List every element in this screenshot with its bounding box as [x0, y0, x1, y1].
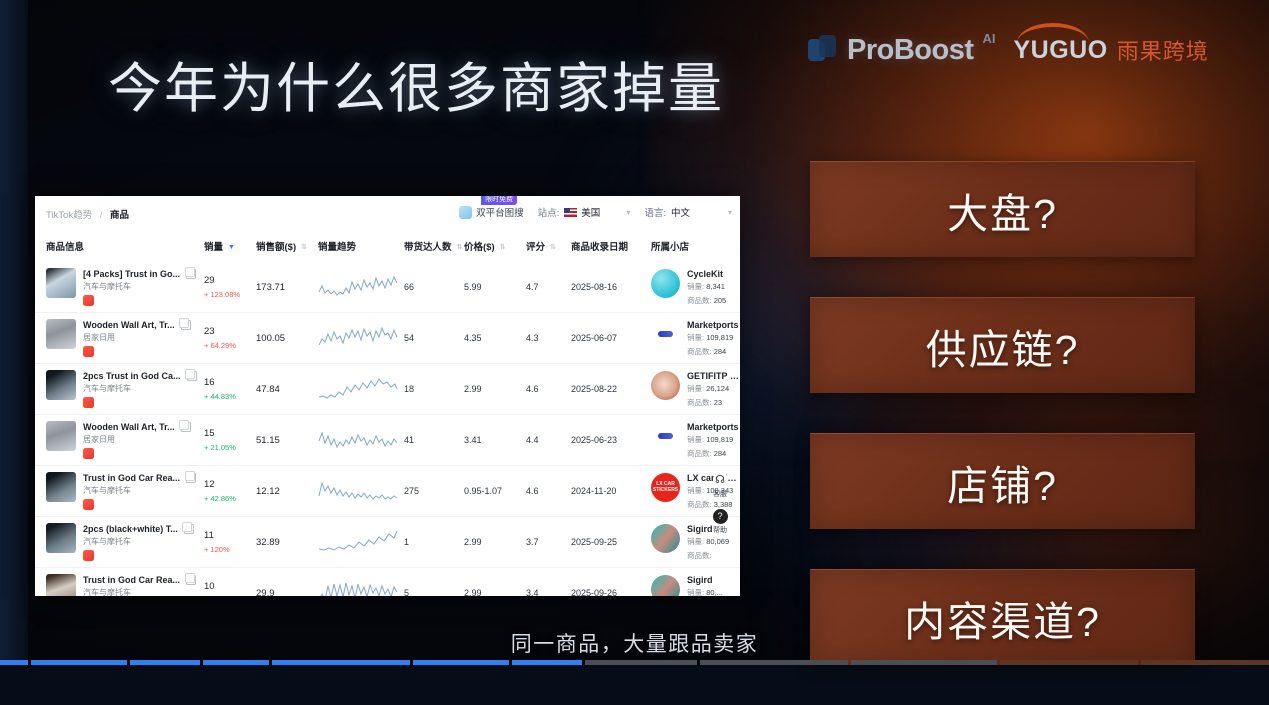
- product-thumbnail: [46, 370, 76, 400]
- cell-trend: [318, 466, 404, 517]
- column-header-shop[interactable]: 所属小店: [651, 232, 740, 262]
- cell-rating: 4.4: [526, 415, 571, 466]
- chevron-down-icon[interactable]: ▾: [728, 208, 732, 217]
- cell-creators: 275: [404, 466, 464, 517]
- shop-avatar: [651, 371, 680, 400]
- cell-revenue: 47.84: [256, 364, 318, 415]
- column-header-sales[interactable]: 销量▼: [204, 232, 256, 262]
- customer-service-button[interactable]: ☊ 客服: [704, 470, 736, 499]
- cell-shop: Marketports 销量: 109,819 商品数: 284: [651, 415, 740, 466]
- cell-listed-date: 2025-06-23: [571, 415, 651, 466]
- cell-sales: 29 + 123.08%: [204, 262, 256, 313]
- sparkline-chart: [318, 529, 398, 555]
- cell-sales: 23 + 64.29%: [204, 313, 256, 364]
- caption-text: 同一商品，大量跟品卖家: [511, 633, 759, 656]
- callout-box-market: 大盘?: [810, 161, 1195, 257]
- tiktok-shop-icon: [83, 550, 94, 561]
- shop-items-value: 205: [714, 296, 727, 305]
- sparkline-chart: [318, 325, 398, 351]
- sort-icon[interactable]: ▼: [228, 244, 235, 251]
- sparkline-chart: [318, 478, 398, 504]
- product-thumbnail: [46, 268, 76, 298]
- tiktok-shop-icon: [83, 295, 94, 306]
- cell-price: 4.35: [464, 313, 526, 364]
- callout-label: 店铺?: [947, 452, 1058, 512]
- product-name[interactable]: [4 Packs] Trust in Go...: [83, 269, 180, 279]
- tiktok-shop-icon: [83, 346, 94, 357]
- sales-delta: + 120%: [204, 545, 256, 554]
- tiktok-shop-icon: [83, 499, 94, 510]
- cell-listed-date: 2025-09-25: [571, 517, 651, 568]
- chevron-down-icon[interactable]: ▾: [626, 208, 630, 217]
- cell-price: 3.41: [464, 415, 526, 466]
- product-name[interactable]: 2pcs Trust in God Ca...: [83, 371, 181, 381]
- customer-service-label: 客服: [704, 489, 736, 499]
- copy-icon[interactable]: [186, 473, 196, 483]
- cell-trend: [318, 313, 404, 364]
- column-header-creators[interactable]: 带货达人数⇅: [404, 232, 464, 262]
- cell-revenue: 173.71: [256, 262, 318, 313]
- callout-box-supply-chain: 供应链?: [810, 297, 1195, 393]
- revenue-value: 47.84: [256, 384, 318, 395]
- table-row[interactable]: [4 Packs] Trust in Go... 汽车与摩托车 29 + 123…: [35, 262, 740, 313]
- help-label: 帮助: [704, 525, 736, 535]
- logo-bar: ProBoost AI YUGUO 雨果跨境: [808, 22, 1260, 78]
- cell-revenue: 12.12: [256, 466, 318, 517]
- cell-revenue: 29.9: [256, 568, 318, 597]
- proboost-ai-suffix: AI: [983, 31, 996, 46]
- cell-sales: 12 + 42.86%: [204, 466, 256, 517]
- cell-rating: 4.3: [526, 313, 571, 364]
- shop-name[interactable]: CycleKit: [687, 269, 726, 279]
- revenue-value: 100.05: [256, 333, 318, 344]
- product-thumbnail: [46, 472, 76, 502]
- cell-trend: [318, 517, 404, 568]
- sort-icon[interactable]: ⇅: [457, 244, 463, 251]
- progress-segment[interactable]: [1141, 660, 1269, 665]
- product-category: 居家日用: [83, 434, 191, 445]
- sales-delta: + 123.08%: [204, 290, 256, 299]
- table-row[interactable]: Trust in God Car Rea... 汽车与摩托车 10 + 66.6…: [35, 568, 740, 597]
- cell-trend: [318, 568, 404, 597]
- shop-sales-value: 8,341: [706, 282, 725, 291]
- copy-icon[interactable]: [181, 422, 191, 432]
- cell-sales: 16 + 44.83%: [204, 364, 256, 415]
- language-value: 中文: [671, 205, 690, 219]
- product-category: 汽车与摩托车: [83, 485, 196, 496]
- proboost-wordmark: ProBoost: [847, 34, 974, 67]
- cell-product-info: Wooden Wall Art, Tr... 居家日用: [35, 415, 204, 466]
- sparkline-chart: [318, 580, 398, 596]
- breadcrumb-current: 商品: [110, 210, 129, 221]
- yuguo-logo: YUGUO 雨果跨境: [1014, 34, 1209, 66]
- table-header-row: 商品信息 销量▼ 销售额($)⇅ 销量趋势 带货达人数⇅ 价格($)⇅ 评分⇅ …: [35, 232, 740, 262]
- progress-segment[interactable]: [1000, 660, 1138, 665]
- callout-list: 大盘? 供应链? 店铺? 内容渠道?: [810, 161, 1195, 705]
- cell-product-info: 2pcs (black+white) T... 汽车与摩托车: [35, 517, 204, 568]
- cell-creators: 41: [404, 415, 464, 466]
- progress-segment[interactable]: [700, 660, 848, 665]
- sparkline-chart: [318, 376, 398, 402]
- shop-avatar: [651, 575, 680, 597]
- cell-listed-date: 2024-11-20: [571, 466, 651, 517]
- cell-trend: [318, 415, 404, 466]
- floating-action-buttons: ☊ 客服 ? 帮助: [704, 470, 736, 542]
- headset-icon: ☊: [713, 472, 728, 487]
- sales-value: 16: [204, 377, 256, 388]
- revenue-value: 173.71: [256, 282, 318, 293]
- cell-creators: 18: [404, 364, 464, 415]
- sparkline-chart: [318, 274, 398, 300]
- table-row[interactable]: Trust in God Car Rea... 汽车与摩托车 12 + 42.8…: [35, 466, 740, 517]
- cell-trend: [318, 364, 404, 415]
- product-category: 汽车与摩托车: [83, 281, 196, 292]
- yuguo-swoosh-icon: [1017, 23, 1089, 43]
- column-header-sales-trend[interactable]: 销量趋势: [318, 232, 404, 262]
- cell-listed-date: 2025-09-26: [571, 568, 651, 597]
- column-header-price[interactable]: 价格($)⇅: [464, 232, 526, 262]
- language-selector[interactable]: 语言: 中文 ▾: [644, 205, 732, 219]
- shop-items-label: 商品数:: [687, 296, 712, 305]
- limited-free-badge: 限时免费: [481, 196, 517, 205]
- progress-segment[interactable]: [203, 660, 269, 665]
- cell-price: 2.99: [464, 364, 526, 415]
- panel-toolbar: 限时免费 双平台图搜 站点: 美国 ▾ 语言: 中文 ▾: [445, 205, 732, 219]
- sort-icon[interactable]: ⇅: [500, 244, 506, 251]
- progress-segment[interactable]: [31, 660, 127, 665]
- breadcrumb-root[interactable]: TikTok趋势: [46, 210, 92, 221]
- video-progress-bar[interactable]: [0, 660, 1269, 665]
- column-header-revenue[interactable]: 销售额($)⇅: [256, 232, 318, 262]
- progress-segment[interactable]: [413, 660, 509, 665]
- language-label: 语言:: [644, 205, 666, 219]
- progress-segment[interactable]: [130, 660, 200, 665]
- panel-header: TikTok趋势 / 商品 限时免费 双平台图搜 站点: 美国 ▾ 语言: 中文…: [35, 196, 740, 232]
- site-label: 站点:: [538, 205, 560, 219]
- product-thumbnail: [46, 523, 76, 553]
- cell-price: 2.99: [464, 517, 526, 568]
- cell-creators: 66: [404, 262, 464, 313]
- cell-revenue: 32.89: [256, 517, 318, 568]
- cell-listed-date: 2025-08-22: [571, 364, 651, 415]
- copy-icon[interactable]: [186, 269, 196, 279]
- cell-shop: Sigird 销量: 80,... 商品数: 14: [651, 568, 740, 597]
- table-row[interactable]: 2pcs Trust in God Ca... 汽车与摩托车 16 + 44.8…: [35, 364, 740, 415]
- proboost-mark-icon: [808, 35, 838, 65]
- background-left-strip: [0, 0, 28, 665]
- image-search-button[interactable]: 限时免费 双平台图搜: [459, 205, 524, 219]
- shop-name[interactable]: Marketports: [687, 320, 739, 330]
- cell-rating: 4.7: [526, 262, 571, 313]
- table-body: [4 Packs] Trust in Go... 汽车与摩托车 29 + 123…: [35, 262, 740, 596]
- cell-shop: Marketports 销量: 109,819 商品数: 284: [651, 313, 740, 364]
- sort-icon[interactable]: ⇅: [550, 244, 556, 251]
- product-thumbnail: [46, 319, 76, 349]
- product-name[interactable]: 2pcs (black+white) T...: [83, 524, 178, 534]
- shop-avatar: LX CARSTICKERS: [651, 473, 680, 502]
- sales-value: 15: [204, 428, 256, 439]
- progress-segment[interactable]: [851, 660, 997, 665]
- sales-value: 12: [204, 479, 256, 490]
- shop-name[interactable]: Marketports: [687, 422, 739, 432]
- cell-revenue: 51.15: [256, 415, 318, 466]
- cell-sales: 10 + 66.67%: [204, 568, 256, 597]
- product-category: 汽车与摩托车: [83, 383, 197, 394]
- revenue-value: 32.89: [256, 537, 318, 548]
- cell-creators: 54: [404, 313, 464, 364]
- sales-delta: + 21.05%: [204, 443, 256, 452]
- copy-icon[interactable]: [184, 524, 194, 534]
- copy-icon[interactable]: [187, 371, 197, 381]
- proboost-logo: ProBoost AI: [808, 34, 974, 67]
- product-category: 汽车与摩托车: [83, 587, 196, 596]
- cell-price: 5.99: [464, 262, 526, 313]
- image-search-icon: [459, 206, 472, 219]
- shop-avatar: [651, 422, 680, 451]
- table-row[interactable]: 2pcs (black+white) T... 汽车与摩托车 11 + 120%…: [35, 517, 740, 568]
- sales-delta: + 42.86%: [204, 494, 256, 503]
- product-name[interactable]: Wooden Wall Art, Tr...: [83, 320, 175, 330]
- us-flag-icon: [564, 208, 577, 217]
- cell-shop: CycleKit 销量: 8,341 商品数: 205: [651, 262, 740, 313]
- cell-product-info: Wooden Wall Art, Tr... 居家日用: [35, 313, 204, 364]
- progress-segment[interactable]: [0, 660, 28, 665]
- yuguo-wordmark-cn: 雨果跨境: [1117, 34, 1209, 66]
- help-button[interactable]: ? 帮助: [704, 506, 736, 535]
- copy-icon[interactable]: [186, 575, 196, 585]
- shop-avatar: [651, 320, 680, 349]
- shop-name[interactable]: GETIFITP ST: [687, 371, 740, 381]
- sales-value: 29: [204, 275, 256, 286]
- products-table: 商品信息 销量▼ 销售额($)⇅ 销量趋势 带货达人数⇅ 价格($)⇅ 评分⇅ …: [35, 232, 740, 596]
- product-thumbnail: [46, 421, 76, 451]
- site-value: 美国: [581, 205, 600, 219]
- shop-sales-label: 销量:: [687, 282, 704, 291]
- sparkline-chart: [318, 427, 398, 453]
- sales-value: 23: [204, 326, 256, 337]
- cell-creators: 5: [404, 568, 464, 597]
- cell-shop: GETIFITP ST 销量: 26,124 商品数: 23: [651, 364, 740, 415]
- tiktok-shop-icon: [83, 448, 94, 459]
- callout-label: 大盘?: [947, 180, 1058, 240]
- shop-name[interactable]: Sigird: [687, 575, 723, 585]
- copy-icon[interactable]: [181, 320, 191, 330]
- page-title: 今年为什么很多商家掉量: [108, 44, 724, 123]
- sales-delta: + 64.29%: [204, 341, 256, 350]
- product-name[interactable]: Wooden Wall Art, Tr...: [83, 422, 175, 432]
- cell-sales: 15 + 21.05%: [204, 415, 256, 466]
- column-header-listed-date[interactable]: 商品收录日期: [571, 232, 651, 262]
- cell-product-info: Trust in God Car Rea... 汽车与摩托车: [35, 568, 204, 597]
- revenue-value: 29.9: [256, 588, 318, 597]
- product-name[interactable]: Trust in God Car Rea...: [83, 473, 180, 483]
- sort-icon[interactable]: ⇅: [301, 244, 307, 251]
- shop-avatar: [651, 524, 680, 553]
- cell-creators: 1: [404, 517, 464, 568]
- table-row[interactable]: Wooden Wall Art, Tr... 居家日用 15 + 21.05% …: [35, 415, 740, 466]
- progress-segment[interactable]: [585, 660, 697, 665]
- shop-avatar: [651, 269, 680, 298]
- product-name[interactable]: Trust in God Car Rea...: [83, 575, 180, 585]
- breadcrumb: TikTok趋势 / 商品: [46, 207, 129, 221]
- cell-product-info: Trust in God Car Rea... 汽车与摩托车: [35, 466, 204, 517]
- progress-segment[interactable]: [512, 660, 582, 665]
- column-header-product-info[interactable]: 商品信息: [35, 232, 204, 262]
- cell-rating: 4.6: [526, 364, 571, 415]
- sales-delta: + 44.83%: [204, 392, 256, 401]
- cell-product-info: 2pcs Trust in God Ca... 汽车与摩托车: [35, 364, 204, 415]
- question-mark-icon: ?: [713, 509, 728, 524]
- column-header-rating[interactable]: 评分⇅: [526, 232, 571, 262]
- cell-rating: 3.7: [526, 517, 571, 568]
- callout-box-store: 店铺?: [810, 433, 1195, 529]
- cell-revenue: 100.05: [256, 313, 318, 364]
- product-category: 汽车与摩托车: [83, 536, 194, 547]
- cell-trend: [318, 262, 404, 313]
- cell-sales: 11 + 120%: [204, 517, 256, 568]
- breadcrumb-separator: /: [100, 210, 103, 221]
- sales-value: 11: [204, 530, 256, 541]
- progress-segment[interactable]: [272, 660, 410, 665]
- tiktok-trends-screenshot: TikTok趋势 / 商品 限时免费 双平台图搜 站点: 美国 ▾ 语言: 中文…: [35, 196, 740, 596]
- cell-price: 0.95-1.07: [464, 466, 526, 517]
- cell-price: 2.99: [464, 568, 526, 597]
- product-category: 居家日用: [83, 332, 191, 343]
- cell-listed-date: 2025-08-16: [571, 262, 651, 313]
- callout-label: 供应链?: [926, 316, 1080, 376]
- site-selector[interactable]: 站点: 美国 ▾: [538, 205, 631, 219]
- cell-rating: 3.4: [526, 568, 571, 597]
- tiktok-shop-icon: [83, 397, 94, 408]
- image-search-label: 双平台图搜: [476, 205, 524, 219]
- slide-caption: 同一商品，大量跟品卖家: [0, 628, 1269, 658]
- cell-product-info: [4 Packs] Trust in Go... 汽车与摩托车: [35, 262, 204, 313]
- cell-listed-date: 2025-06-07: [571, 313, 651, 364]
- sales-value: 10: [204, 581, 256, 592]
- revenue-value: 12.12: [256, 486, 318, 497]
- product-thumbnail: [46, 574, 76, 596]
- cell-rating: 4.6: [526, 466, 571, 517]
- revenue-value: 51.15: [256, 435, 318, 446]
- table-row[interactable]: Wooden Wall Art, Tr... 居家日用 23 + 64.29% …: [35, 313, 740, 364]
